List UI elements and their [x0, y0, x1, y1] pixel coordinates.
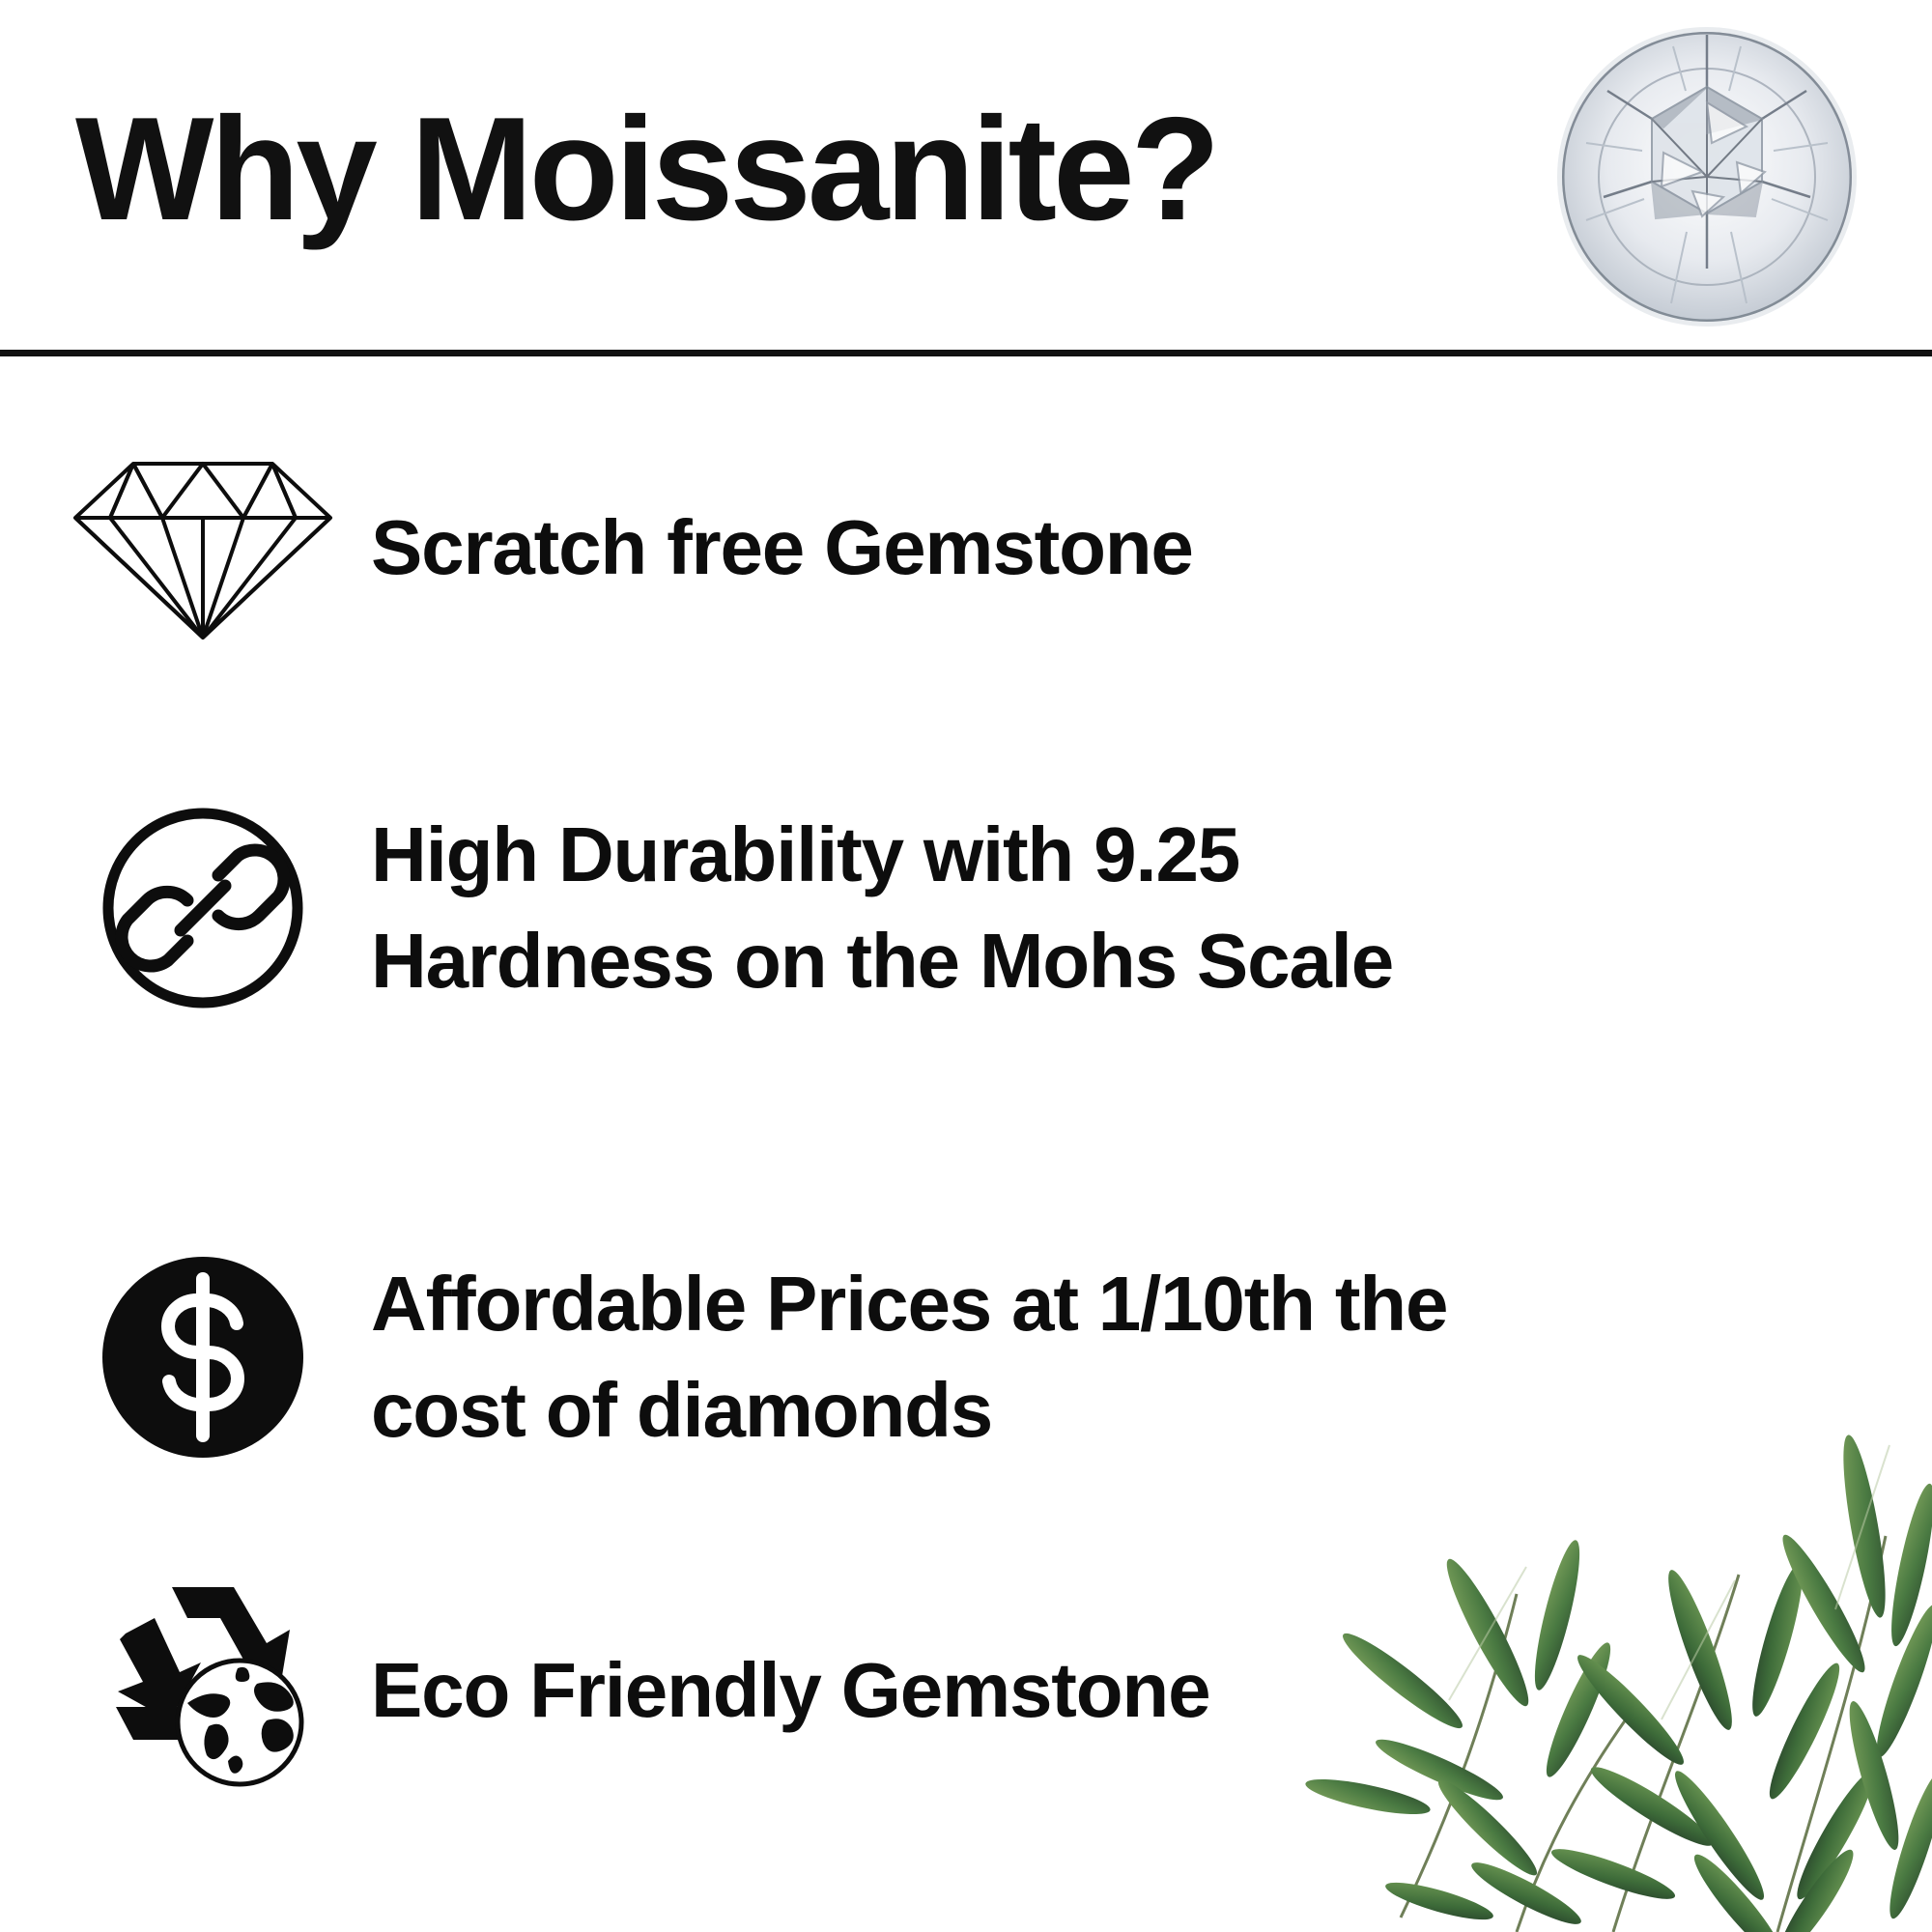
feature-row-scratch-free: Scratch free Gemstone [58, 440, 1700, 657]
feature-text: Scratch free Gemstone [348, 495, 1193, 601]
feature-row-durability: High Durability with 9.25 Hardness on th… [58, 753, 1797, 1063]
dollar-coin-icon [58, 1250, 348, 1464]
feature-row-eco-friendly: Eco Friendly Gemstone [58, 1565, 1700, 1816]
feature-text: Affordable Prices at 1/10th the cost of … [348, 1251, 1447, 1464]
moissanite-gem-photo [1557, 27, 1857, 327]
diamond-outline-icon [58, 452, 348, 645]
feature-text: High Durability with 9.25 Hardness on th… [348, 802, 1393, 1015]
feature-text-line: cost of diamonds [371, 1357, 1447, 1463]
link-circle-icon [58, 801, 348, 1015]
feature-row-affordable: Affordable Prices at 1/10th the cost of … [58, 1203, 1845, 1512]
header-divider [0, 350, 1932, 356]
feature-text-line: Eco Friendly Gemstone [371, 1637, 1209, 1744]
page-title: Why Moissanite? [75, 93, 1216, 247]
feature-text-line: Affordable Prices at 1/10th the [371, 1251, 1447, 1357]
feature-text-line: High Durability with 9.25 [371, 802, 1393, 908]
feature-text: Eco Friendly Gemstone [348, 1637, 1209, 1744]
feature-text-line: Hardness on the Mohs Scale [371, 908, 1393, 1014]
header: Why Moissanite? [0, 0, 1932, 355]
recycle-globe-icon [58, 1579, 348, 1802]
feature-text-line: Scratch free Gemstone [371, 495, 1193, 601]
infographic-page: Why Moissanite? [0, 0, 1932, 1932]
